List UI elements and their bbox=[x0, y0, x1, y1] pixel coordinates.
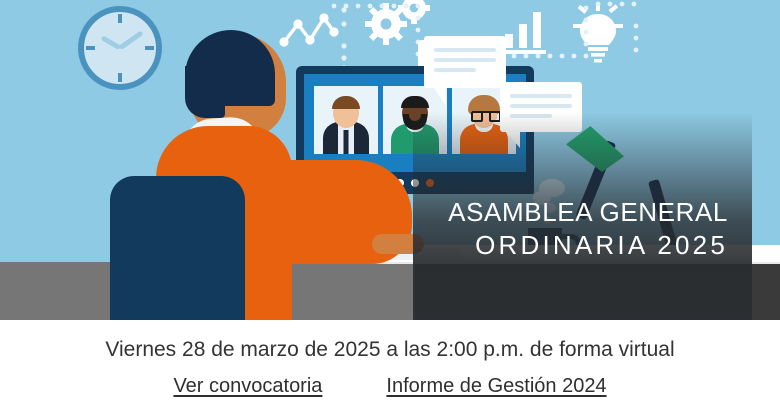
person-hair-back bbox=[185, 66, 225, 118]
speech-bubble-1 bbox=[424, 36, 506, 88]
office-chair bbox=[110, 176, 245, 320]
video-tile-participant-1 bbox=[314, 86, 378, 154]
caption-block: Viernes 28 de marzo de 2025 a las 2:00 p… bbox=[0, 320, 780, 418]
link-ver-convocatoria[interactable]: Ver convocatoria bbox=[173, 373, 322, 399]
caption-links: Ver convocatoria Informe de Gestión 2024 bbox=[0, 373, 780, 399]
link-informe-gestion[interactable]: Informe de Gestión 2024 bbox=[386, 373, 606, 399]
banner-title: ASAMBLEA GENERAL ORDINARIA 2025 bbox=[413, 196, 752, 262]
title-line-2: ORDINARIA 2025 bbox=[413, 228, 728, 262]
title-line-1: ASAMBLEA GENERAL bbox=[413, 196, 728, 228]
assembly-announcement-banner: ASAMBLEA GENERAL ORDINARIA 2025 Viernes … bbox=[0, 0, 780, 418]
event-date-text: Viernes 28 de marzo de 2025 a las 2:00 p… bbox=[0, 336, 780, 364]
clock-icon bbox=[78, 6, 162, 90]
hero-illustration bbox=[0, 0, 780, 320]
dotted-column-decoration bbox=[340, 6, 348, 70]
